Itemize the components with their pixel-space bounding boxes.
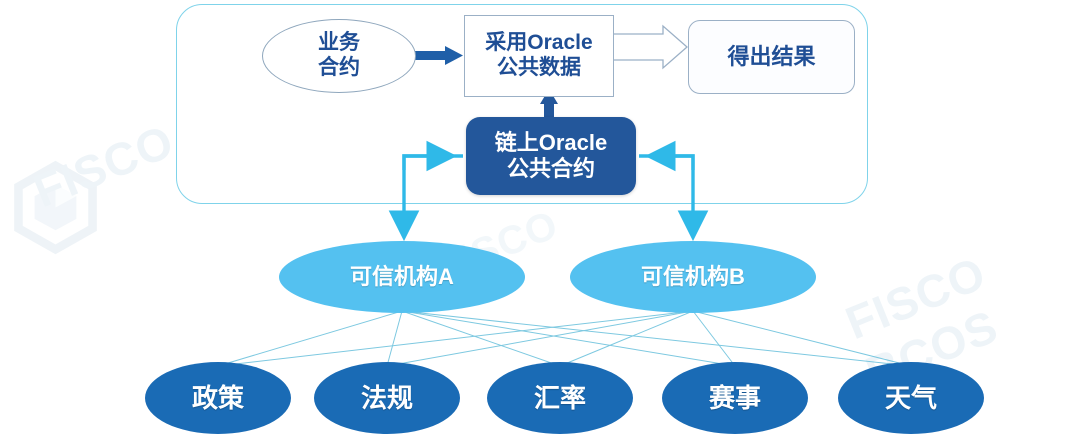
business-contract-line2: 合约: [318, 56, 360, 79]
source-node-sports-event[interactable]: 赛事: [662, 362, 808, 434]
business-contract-line1: 业务: [318, 31, 360, 54]
oracle-public-data-line2: 公共数据: [497, 56, 581, 79]
source-label-sports-event: 赛事: [709, 383, 761, 414]
onchain-oracle-contract-label: 链上Oracle 公共合约: [495, 130, 608, 182]
onchain-line1: 链上Oracle: [495, 130, 608, 155]
source-node-exchange-rate[interactable]: 汇率: [487, 362, 633, 434]
source-label-regulation: 法规: [361, 383, 413, 414]
source-label-weather: 天气: [885, 383, 937, 414]
result-node[interactable]: 得出结果: [688, 20, 855, 94]
business-contract-label: 业务 合约: [318, 31, 360, 81]
trusted-org-b-label: 可信机构B: [641, 264, 745, 290]
onchain-to-orgA-connector: [404, 156, 463, 236]
source-node-regulation[interactable]: 法规: [314, 362, 460, 434]
onchain-oracle-contract-node[interactable]: 链上Oracle 公共合约: [466, 117, 636, 195]
business-contract-node[interactable]: 业务 合约: [262, 19, 416, 93]
result-label: 得出结果: [727, 44, 815, 70]
trusted-org-a-label: 可信机构A: [350, 264, 454, 290]
source-label-exchange-rate: 汇率: [534, 383, 586, 414]
oracle-public-data-line1: 采用Oracle: [485, 31, 592, 54]
source-label-policy: 政策: [192, 383, 244, 414]
onchain-line2: 公共合约: [507, 156, 595, 181]
oracle-public-data-node[interactable]: 采用Oracle 公共数据: [464, 15, 614, 97]
source-node-policy[interactable]: 政策: [145, 362, 291, 434]
trusted-org-a-node[interactable]: 可信机构A: [279, 241, 525, 313]
oracle-public-data-label: 采用Oracle 公共数据: [485, 31, 592, 81]
oracle-data-to-result-connector: [612, 26, 687, 68]
contract-to-oracle-data-connector: [409, 46, 463, 65]
orgs-to-sources-mesh: [218, 311, 911, 366]
trusted-org-b-node[interactable]: 可信机构B: [570, 241, 816, 313]
source-node-weather[interactable]: 天气: [838, 362, 984, 434]
onchain-to-orgB-connector: [639, 156, 693, 236]
diagram-canvas: FISCO FISCO FISCO BCOS: [0, 0, 1080, 438]
